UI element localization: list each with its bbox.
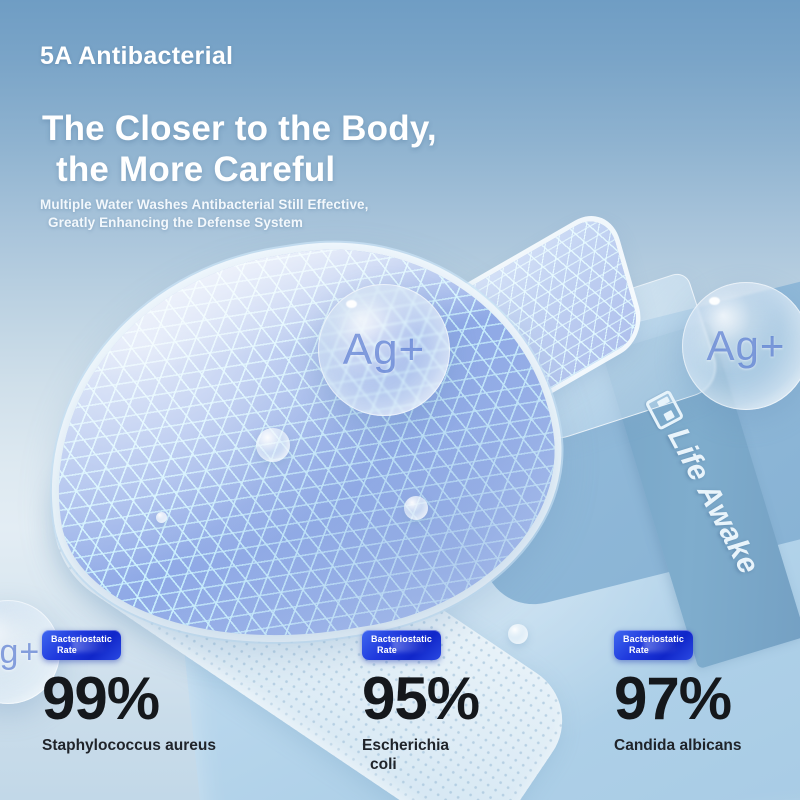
badge-line-1: Bacteriostatic	[623, 634, 684, 645]
stat-value: 95%	[362, 669, 479, 729]
stat-label-line-2: coli	[362, 756, 479, 775]
badge-line-1: Bacteriostatic	[51, 634, 112, 645]
badge-line-2: Rate	[371, 645, 432, 656]
stat-label-line-1: Escherichia	[362, 737, 449, 754]
stat-label: Staphylococcus aureus	[42, 737, 216, 756]
status-badge: Bacteriostatic Rate	[614, 630, 693, 660]
stat-label: Candida albicans	[614, 737, 741, 756]
status-badge: Bacteriostatic Rate	[362, 630, 441, 660]
badge-line-2: Rate	[51, 645, 112, 656]
badge-line-1: Bacteriostatic	[371, 634, 432, 645]
stat-item: Bacteriostatic Rate 95% Escherichia coli	[362, 630, 479, 775]
status-badge: Bacteriostatic Rate	[42, 630, 121, 660]
stat-label: Escherichia coli	[362, 737, 479, 775]
stat-value: 97%	[614, 669, 741, 729]
statistics-row: Bacteriostatic Rate 99% Staphylococcus a…	[0, 0, 800, 800]
stat-item: Bacteriostatic Rate 99% Staphylococcus a…	[42, 630, 216, 756]
stat-value: 99%	[42, 669, 216, 729]
badge-line-2: Rate	[623, 645, 684, 656]
stat-item: Bacteriostatic Rate 97% Candida albicans	[614, 630, 741, 756]
product-marketing-banner: Life Awake Ag+ Ag+ Ag+ 5A Antibacterial …	[0, 0, 800, 800]
